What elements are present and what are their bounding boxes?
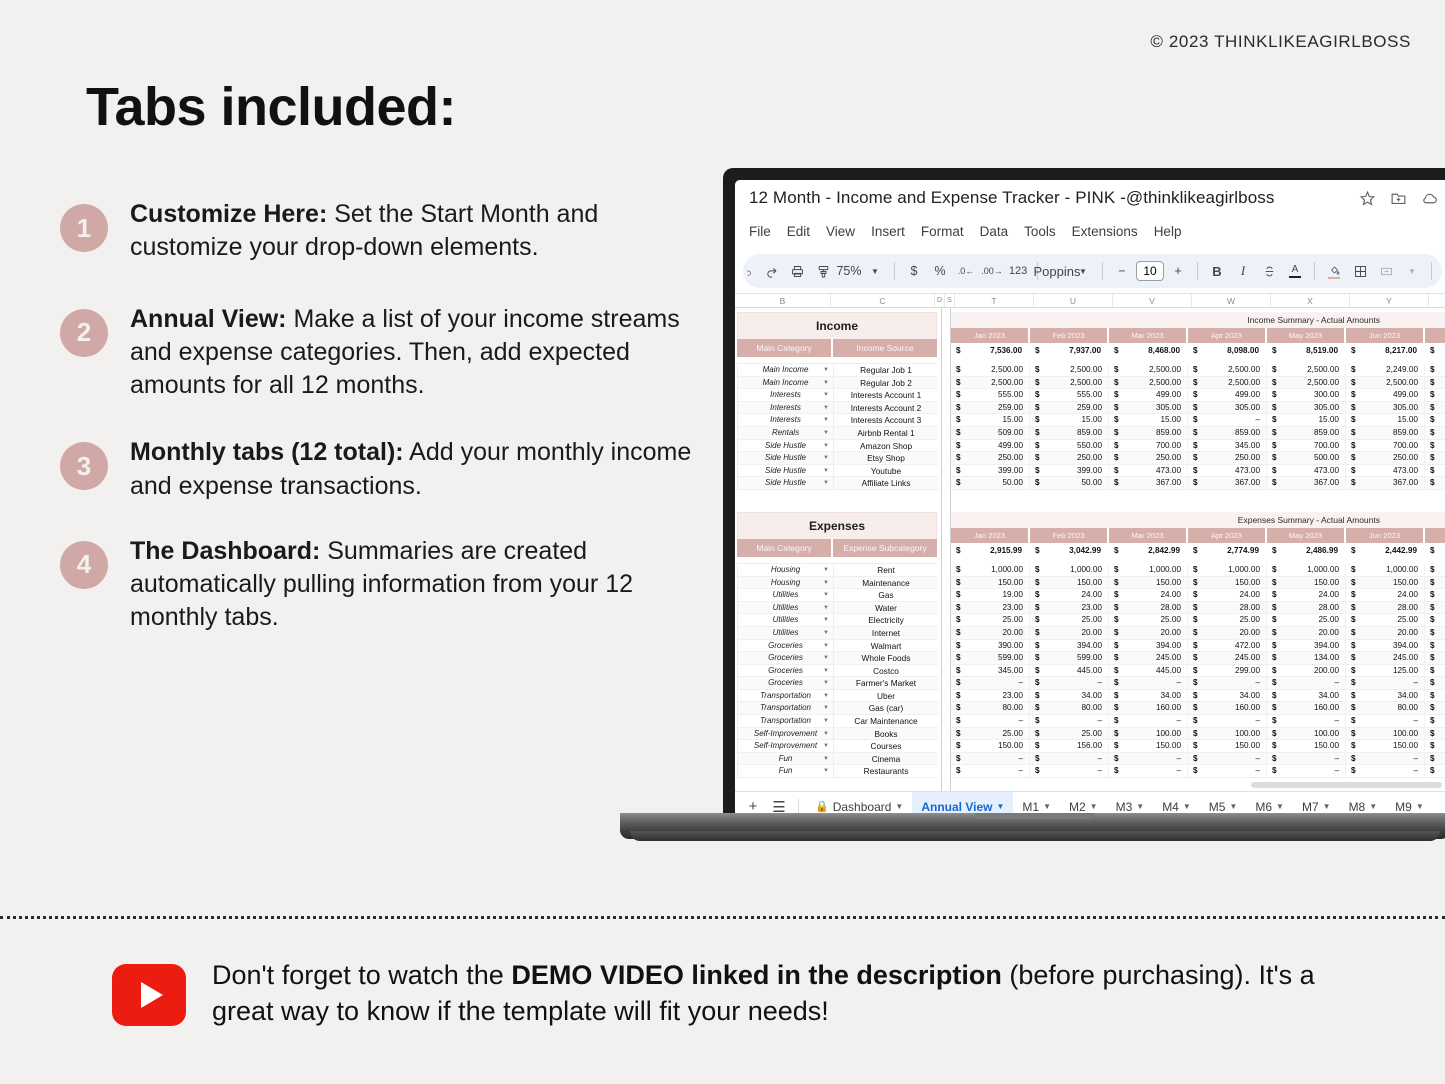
amount-cell[interactable]: $150.00 bbox=[951, 577, 1030, 590]
amount-cell[interactable]: $– bbox=[1109, 765, 1188, 778]
subcategory-cell[interactable]: Cinema bbox=[834, 753, 938, 766]
amount-cell[interactable]: $150.00 bbox=[1188, 577, 1267, 590]
amount-cell[interactable]: $2,249.00 bbox=[1346, 364, 1425, 377]
amount-cell[interactable]: $23.00 bbox=[951, 602, 1030, 615]
amount-cell[interactable]: $150.00 bbox=[1267, 740, 1346, 753]
menu-view[interactable]: View bbox=[826, 224, 855, 248]
amount-cell[interactable]: $700.00 bbox=[1346, 440, 1425, 453]
amount-cell[interactable]: $1,000.00 bbox=[1425, 564, 1445, 577]
table-row[interactable]: Fun▼Restaurants bbox=[738, 765, 936, 778]
amount-cell[interactable]: $80.00 bbox=[1346, 702, 1425, 715]
table-row[interactable]: Transportation▼Uber bbox=[738, 690, 936, 703]
amount-cell[interactable]: $399.00 bbox=[1425, 465, 1445, 478]
table-row[interactable]: Utilities▼Gas bbox=[738, 589, 936, 602]
table-row[interactable]: Interests▼Interests Account 3 bbox=[738, 414, 936, 427]
amount-cell[interactable]: $100.00 bbox=[1267, 728, 1346, 741]
table-row[interactable]: Main Income▼Regular Job 2 bbox=[738, 377, 936, 390]
amount-cell[interactable]: $25.00 bbox=[1267, 614, 1346, 627]
month-total-cell[interactable]: $8,217.00 bbox=[1346, 343, 1425, 358]
amount-cell[interactable]: $149.00 bbox=[1425, 740, 1445, 753]
chevron-down-icon[interactable]: ▼ bbox=[823, 765, 829, 778]
table-row[interactable]: Housing▼Rent bbox=[738, 564, 936, 577]
chevron-down-icon[interactable]: ▼ bbox=[823, 577, 829, 590]
main-category-cell[interactable]: Utilities▼ bbox=[738, 614, 834, 627]
main-category-cell[interactable]: Transportation▼ bbox=[738, 702, 834, 715]
amount-cell[interactable]: $160.00 bbox=[1188, 702, 1267, 715]
chevron-down-icon[interactable]: ▼ bbox=[823, 414, 829, 427]
amount-cell[interactable]: $– bbox=[1267, 765, 1346, 778]
amount-cell[interactable]: $1,000.00 bbox=[1346, 564, 1425, 577]
amount-cell[interactable]: $2,500.00 bbox=[1267, 377, 1346, 390]
menu-edit[interactable]: Edit bbox=[787, 224, 810, 248]
month-total-cell[interactable]: $2,915.99 bbox=[951, 543, 1030, 558]
main-category-cell[interactable]: Interests▼ bbox=[738, 402, 834, 415]
cloud-saved-icon[interactable] bbox=[1421, 190, 1438, 212]
chevron-down-icon[interactable]: ▼ bbox=[895, 802, 903, 811]
amount-cell[interactable]: $24.00 bbox=[1109, 589, 1188, 602]
month-total-cell[interactable]: $2,471.99 bbox=[1425, 543, 1445, 558]
amount-cell[interactable]: $20.00 bbox=[1267, 627, 1346, 640]
amount-cell[interactable]: $312.00 bbox=[1425, 640, 1445, 653]
amount-cell[interactable]: $15.00 bbox=[1425, 414, 1445, 427]
increase-decimal-icon[interactable]: .00→ bbox=[980, 258, 1004, 284]
amount-cell[interactable]: $23.00 bbox=[951, 690, 1030, 703]
amount-cell[interactable]: $34.00 bbox=[1346, 690, 1425, 703]
amount-cell[interactable]: $50.00 bbox=[951, 477, 1030, 490]
amount-cell[interactable]: $– bbox=[1030, 715, 1109, 728]
percent-format-icon[interactable]: % bbox=[928, 258, 952, 284]
column-header-W[interactable]: W bbox=[1192, 294, 1271, 307]
amount-cell[interactable]: $473.00 bbox=[1188, 465, 1267, 478]
column-header-X[interactable]: X bbox=[1271, 294, 1350, 307]
main-category-cell[interactable]: Groceries▼ bbox=[738, 665, 834, 678]
subcategory-cell[interactable]: Costco bbox=[834, 665, 938, 678]
chevron-down-icon[interactable]: ▼ bbox=[1369, 802, 1377, 811]
amount-cell[interactable]: $1,000.00 bbox=[1030, 564, 1109, 577]
amount-cell[interactable]: $25.00 bbox=[951, 614, 1030, 627]
amount-cell[interactable]: $15.00 bbox=[1109, 414, 1188, 427]
menu-tools[interactable]: Tools bbox=[1024, 224, 1056, 248]
amount-cell[interactable]: $499.00 bbox=[951, 440, 1030, 453]
month-total-cell[interactable]: $8,519.00 bbox=[1267, 343, 1346, 358]
amount-cell[interactable]: $25.00 bbox=[1030, 728, 1109, 741]
amount-cell[interactable]: $473.00 bbox=[1109, 465, 1188, 478]
subcategory-cell[interactable]: Electricity bbox=[834, 614, 938, 627]
amount-cell[interactable]: $28.00 bbox=[1346, 602, 1425, 615]
zoom-chevron-down-icon[interactable]: ▼ bbox=[863, 258, 887, 284]
amount-cell[interactable]: $2,500.00 bbox=[1188, 364, 1267, 377]
amount-cell[interactable]: $150.00 bbox=[1030, 577, 1109, 590]
table-row[interactable]: Side Hustle▼Amazon Shop bbox=[738, 440, 936, 453]
chevron-down-icon[interactable]: ▼ bbox=[823, 715, 829, 728]
subcategory-cell[interactable]: Affiliate Links bbox=[834, 477, 938, 490]
table-row[interactable]: $399.00$399.00$473.00$473.00$473.00$473.… bbox=[951, 465, 1445, 478]
table-row[interactable]: $50.00$50.00$367.00$367.00$367.00$367.00… bbox=[951, 477, 1445, 490]
chevron-down-icon[interactable]: ▼ bbox=[823, 690, 829, 703]
amount-cell[interactable]: $555.00 bbox=[1030, 389, 1109, 402]
subcategory-cell[interactable]: Youtube bbox=[834, 465, 938, 478]
month-total-cell[interactable]: $7,737.00 bbox=[1425, 343, 1445, 358]
amount-cell[interactable]: $150.00 bbox=[1109, 740, 1188, 753]
subcategory-cell[interactable]: Car Maintenance bbox=[834, 715, 938, 728]
amount-cell[interactable]: $20.00 bbox=[1109, 627, 1188, 640]
table-row[interactable]: $20.00$20.00$20.00$20.00$20.00$20.00$20.… bbox=[951, 627, 1445, 640]
amount-cell[interactable]: $20.00 bbox=[1346, 627, 1425, 640]
amount-cell[interactable]: $2,500.00 bbox=[1030, 364, 1109, 377]
subcategory-cell[interactable]: Regular Job 2 bbox=[834, 377, 938, 390]
main-category-cell[interactable]: Groceries▼ bbox=[738, 677, 834, 690]
amount-cell[interactable]: $150.00 bbox=[1346, 740, 1425, 753]
chevron-down-icon[interactable]: ▼ bbox=[823, 665, 829, 678]
amount-cell[interactable]: $499.00 bbox=[1188, 389, 1267, 402]
table-row[interactable]: $80.00$80.00$160.00$160.00$160.00$80.00$… bbox=[951, 702, 1445, 715]
table-row[interactable]: $150.00$150.00$150.00$150.00$150.00$150.… bbox=[951, 577, 1445, 590]
table-row[interactable]: $390.00$394.00$394.00$472.00$394.00$394.… bbox=[951, 640, 1445, 653]
amount-cell[interactable]: $859.00 bbox=[1188, 427, 1267, 440]
subcategory-cell[interactable]: Regular Job 1 bbox=[834, 364, 938, 377]
table-row[interactable]: $259.00$259.00$305.00$305.00$305.00$305.… bbox=[951, 402, 1445, 415]
amount-cell[interactable]: $23.00 bbox=[1425, 602, 1445, 615]
main-category-cell[interactable]: Utilities▼ bbox=[738, 589, 834, 602]
amount-cell[interactable]: $– bbox=[1188, 414, 1267, 427]
month-total-cell[interactable]: $2,442.99 bbox=[1346, 543, 1425, 558]
print-icon[interactable] bbox=[785, 258, 809, 284]
amount-cell[interactable]: $150.00 bbox=[951, 740, 1030, 753]
amount-cell[interactable]: $25.00 bbox=[951, 728, 1030, 741]
amount-cell[interactable]: $15.00 bbox=[951, 414, 1030, 427]
subcategory-cell[interactable]: Interests Account 3 bbox=[834, 414, 938, 427]
amount-cell[interactable]: $15.00 bbox=[1030, 414, 1109, 427]
amount-cell[interactable]: $15.00 bbox=[1346, 414, 1425, 427]
amount-cell[interactable]: $399.00 bbox=[1030, 465, 1109, 478]
amount-cell[interactable]: $250.00 bbox=[1188, 452, 1267, 465]
main-category-cell[interactable]: Transportation▼ bbox=[738, 715, 834, 728]
amount-cell[interactable]: $25.00 bbox=[1188, 614, 1267, 627]
amount-cell[interactable]: $1,000.00 bbox=[1109, 564, 1188, 577]
amount-cell[interactable]: $50.00 bbox=[1425, 477, 1445, 490]
table-row[interactable]: $15.00$15.00$15.00$–$15.00$15.00$15.00$1… bbox=[951, 414, 1445, 427]
amount-cell[interactable]: $250.00 bbox=[1425, 452, 1445, 465]
amount-cell[interactable]: $24.00 bbox=[1030, 589, 1109, 602]
amount-cell[interactable]: $394.00 bbox=[1030, 640, 1109, 653]
main-category-cell[interactable]: Housing▼ bbox=[738, 564, 834, 577]
month-total-cell[interactable]: $8,098.00 bbox=[1188, 343, 1267, 358]
italic-button[interactable]: I bbox=[1231, 258, 1255, 284]
strikethrough-icon[interactable] bbox=[1257, 258, 1281, 284]
main-category-cell[interactable]: Housing▼ bbox=[738, 577, 834, 590]
amount-cell[interactable]: $700.00 bbox=[1267, 440, 1346, 453]
month-total-cell[interactable]: $8,468.00 bbox=[1109, 343, 1188, 358]
chevron-down-icon[interactable]: ▼ bbox=[823, 427, 829, 440]
currency-format-icon[interactable]: $ bbox=[902, 258, 926, 284]
table-row[interactable]: $2,500.00$2,500.00$2,500.00$2,500.00$2,5… bbox=[951, 364, 1445, 377]
amount-cell[interactable]: $23.00 bbox=[1030, 602, 1109, 615]
subcategory-cell[interactable]: Etsy Shop bbox=[834, 452, 938, 465]
amount-cell[interactable]: $24.00 bbox=[1267, 589, 1346, 602]
amount-cell[interactable]: $– bbox=[1346, 765, 1425, 778]
amount-cell[interactable]: $160.00 bbox=[1267, 702, 1346, 715]
amount-cell[interactable]: $700.00 bbox=[1425, 440, 1445, 453]
chevron-down-icon[interactable]: ▼ bbox=[823, 402, 829, 415]
amount-cell[interactable]: $19.00 bbox=[1425, 589, 1445, 602]
amount-cell[interactable]: $100.00 bbox=[1109, 728, 1188, 741]
amount-cell[interactable]: $399.00 bbox=[951, 465, 1030, 478]
amount-cell[interactable]: $245.00 bbox=[1188, 652, 1267, 665]
main-category-cell[interactable]: Groceries▼ bbox=[738, 640, 834, 653]
amount-cell[interactable]: $50.00 bbox=[1030, 477, 1109, 490]
amount-cell[interactable]: $1,000.00 bbox=[951, 564, 1030, 577]
amount-cell[interactable]: $34.00 bbox=[1267, 690, 1346, 703]
column-header-U[interactable]: U bbox=[1034, 294, 1113, 307]
main-category-cell[interactable]: Fun▼ bbox=[738, 765, 834, 778]
main-category-cell[interactable]: Groceries▼ bbox=[738, 652, 834, 665]
table-row[interactable]: Transportation▼Car Maintenance bbox=[738, 715, 936, 728]
month-total-cell[interactable]: $3,042.99 bbox=[1030, 543, 1109, 558]
amount-cell[interactable]: $367.00 bbox=[1109, 477, 1188, 490]
table-row[interactable]: $23.00$23.00$28.00$28.00$28.00$28.00$23.… bbox=[951, 602, 1445, 615]
chevron-down-icon[interactable]: ▼ bbox=[823, 389, 829, 402]
amount-cell[interactable]: $250.00 bbox=[1109, 452, 1188, 465]
table-row[interactable]: $250.00$250.00$250.00$250.00$500.00$250.… bbox=[951, 452, 1445, 465]
paint-format-icon[interactable] bbox=[811, 258, 835, 284]
amount-cell[interactable]: $150.00 bbox=[1346, 577, 1425, 590]
amount-cell[interactable]: $150.00 bbox=[1425, 577, 1445, 590]
amount-cell[interactable]: $– bbox=[1425, 677, 1445, 690]
amount-cell[interactable]: $2,500.00 bbox=[951, 364, 1030, 377]
chevron-down-icon[interactable]: ▼ bbox=[823, 740, 829, 753]
amount-cell[interactable]: $– bbox=[1346, 753, 1425, 766]
menu-data[interactable]: Data bbox=[980, 224, 1009, 248]
chevron-down-icon[interactable]: ▼ bbox=[823, 652, 829, 665]
chevron-down-icon[interactable]: ▼ bbox=[1090, 802, 1098, 811]
subcategory-cell[interactable]: Interests Account 2 bbox=[834, 402, 938, 415]
column-header-Y[interactable]: Y bbox=[1350, 294, 1429, 307]
amount-cell[interactable]: $24.00 bbox=[1188, 589, 1267, 602]
amount-cell[interactable]: $20.00 bbox=[1425, 627, 1445, 640]
subcategory-cell[interactable]: Restaurants bbox=[834, 765, 938, 778]
subcategory-cell[interactable]: Rent bbox=[834, 564, 938, 577]
main-category-cell[interactable]: Self-Improvement▼ bbox=[738, 740, 834, 753]
amount-cell[interactable]: $473.00 bbox=[1267, 465, 1346, 478]
amount-cell[interactable]: $394.00 bbox=[1346, 640, 1425, 653]
main-category-cell[interactable]: Fun▼ bbox=[738, 753, 834, 766]
amount-cell[interactable]: $859.00 bbox=[1030, 427, 1109, 440]
horizontal-align-icon[interactable] bbox=[1439, 258, 1442, 284]
amount-cell[interactable]: $2,500.00 bbox=[1346, 377, 1425, 390]
column-header-S[interactable]: S bbox=[945, 294, 955, 307]
subcategory-cell[interactable]: Amazon Shop bbox=[834, 440, 938, 453]
amount-cell[interactable]: $24.00 bbox=[1346, 589, 1425, 602]
amount-cell[interactable]: $499.00 bbox=[1346, 389, 1425, 402]
amount-cell[interactable]: $23.00 bbox=[1425, 690, 1445, 703]
table-row[interactable]: Side Hustle▼Affiliate Links bbox=[738, 477, 936, 490]
table-row[interactable]: Self-Improvement▼Courses bbox=[738, 740, 936, 753]
amount-cell[interactable]: $390.00 bbox=[951, 640, 1030, 653]
amount-cell[interactable]: $34.00 bbox=[1109, 690, 1188, 703]
star-icon[interactable] bbox=[1359, 190, 1376, 212]
table-row[interactable]: $555.00$555.00$499.00$499.00$300.00$499.… bbox=[951, 389, 1445, 402]
amount-cell[interactable]: $100.00 bbox=[1346, 728, 1425, 741]
column-header-D[interactable]: D bbox=[935, 294, 945, 307]
menu-help[interactable]: Help bbox=[1154, 224, 1182, 248]
amount-cell[interactable]: $– bbox=[1267, 677, 1346, 690]
more-formats-icon[interactable]: 123 bbox=[1006, 258, 1030, 284]
chevron-down-icon[interactable]: ▼ bbox=[1136, 802, 1144, 811]
undo-icon[interactable] bbox=[747, 258, 757, 284]
amount-cell[interactable]: $15.00 bbox=[1267, 414, 1346, 427]
menu-insert[interactable]: Insert bbox=[871, 224, 905, 248]
amount-cell[interactable]: $20.00 bbox=[1030, 627, 1109, 640]
font-size-input[interactable]: 10 bbox=[1136, 261, 1164, 281]
amount-cell[interactable]: $19.00 bbox=[951, 589, 1030, 602]
amount-cell[interactable]: $25.00 bbox=[1425, 728, 1445, 741]
amount-cell[interactable]: $2,500.00 bbox=[1109, 377, 1188, 390]
amount-cell[interactable]: $156.00 bbox=[1030, 740, 1109, 753]
amount-cell[interactable]: $509.00 bbox=[951, 427, 1030, 440]
amount-cell[interactable]: $– bbox=[1030, 677, 1109, 690]
subcategory-cell[interactable]: Uber bbox=[834, 690, 938, 703]
amount-cell[interactable]: $445.00 bbox=[1030, 665, 1109, 678]
amount-cell[interactable]: $2,500.00 bbox=[1425, 377, 1445, 390]
chevron-down-icon[interactable]: ▼ bbox=[823, 728, 829, 741]
table-row[interactable]: $–$–$–$–$–$–$–$–$– bbox=[951, 677, 1445, 690]
amount-cell[interactable]: $– bbox=[1109, 753, 1188, 766]
amount-cell[interactable]: $– bbox=[951, 765, 1030, 778]
amount-cell[interactable]: $305.00 bbox=[1267, 402, 1346, 415]
amount-cell[interactable]: $28.00 bbox=[1109, 602, 1188, 615]
amount-cell[interactable]: $305.00 bbox=[1188, 402, 1267, 415]
subcategory-cell[interactable]: Walmart bbox=[834, 640, 938, 653]
table-row[interactable]: Groceries▼Farmer's Market bbox=[738, 677, 936, 690]
spreadsheet-title[interactable]: 12 Month - Income and Expense Tracker - … bbox=[749, 188, 1436, 208]
table-row[interactable]: $599.00$599.00$245.00$245.00$134.00$245.… bbox=[951, 652, 1445, 665]
amount-cell[interactable]: $1,000.00 bbox=[1188, 564, 1267, 577]
table-row[interactable]: Housing▼Maintenance bbox=[738, 577, 936, 590]
amount-cell[interactable]: $150.00 bbox=[1109, 577, 1188, 590]
table-row[interactable]: Utilities▼Water bbox=[738, 602, 936, 615]
main-category-cell[interactable]: Main Income▼ bbox=[738, 364, 834, 377]
amount-cell[interactable]: $25.00 bbox=[1030, 614, 1109, 627]
amount-cell[interactable]: $134.00 bbox=[1267, 652, 1346, 665]
chevron-down-icon[interactable]: ▼ bbox=[823, 377, 829, 390]
font-family-select[interactable]: Poppins bbox=[1045, 258, 1069, 284]
amount-cell[interactable]: $555.00 bbox=[951, 389, 1030, 402]
amount-cell[interactable]: $– bbox=[1425, 765, 1445, 778]
chevron-down-icon[interactable]: ▼ bbox=[823, 452, 829, 465]
main-category-cell[interactable]: Side Hustle▼ bbox=[738, 465, 834, 478]
menu-file[interactable]: File bbox=[749, 224, 771, 248]
amount-cell[interactable]: $367.00 bbox=[1188, 477, 1267, 490]
amount-cell[interactable]: $80.00 bbox=[1425, 702, 1445, 715]
amount-cell[interactable]: $– bbox=[951, 753, 1030, 766]
chevron-down-icon[interactable]: ▼ bbox=[1183, 802, 1191, 811]
menu-extensions[interactable]: Extensions bbox=[1072, 224, 1138, 248]
table-row[interactable]: Fun▼Cinema bbox=[738, 753, 936, 766]
amount-cell[interactable]: $599.00 bbox=[1030, 652, 1109, 665]
table-row[interactable]: Rentals▼Airbnb Rental 1 bbox=[738, 427, 936, 440]
fill-color-icon[interactable] bbox=[1322, 258, 1346, 284]
amount-cell[interactable]: $28.00 bbox=[1188, 602, 1267, 615]
main-category-cell[interactable]: Utilities▼ bbox=[738, 627, 834, 640]
table-row[interactable]: Utilities▼Internet bbox=[738, 627, 936, 640]
amount-cell[interactable]: $250.00 bbox=[951, 452, 1030, 465]
amount-cell[interactable]: $259.00 bbox=[1425, 402, 1445, 415]
font-chevron-down-icon[interactable]: ▼ bbox=[1071, 258, 1095, 284]
amount-cell[interactable]: $160.00 bbox=[1109, 702, 1188, 715]
table-row[interactable]: Groceries▼Walmart bbox=[738, 640, 936, 653]
table-row[interactable]: $25.00$25.00$100.00$100.00$100.00$100.00… bbox=[951, 728, 1445, 741]
amount-cell[interactable]: $555.00 bbox=[1425, 389, 1445, 402]
amount-cell[interactable]: $80.00 bbox=[1030, 702, 1109, 715]
month-total-cell[interactable]: $2,774.99 bbox=[1188, 543, 1267, 558]
amount-cell[interactable]: $80.00 bbox=[951, 702, 1030, 715]
amount-cell[interactable]: $– bbox=[951, 715, 1030, 728]
amount-cell[interactable]: $20.00 bbox=[951, 627, 1030, 640]
chevron-down-icon[interactable]: ▼ bbox=[823, 589, 829, 602]
amount-cell[interactable]: $245.00 bbox=[1109, 652, 1188, 665]
amount-cell[interactable]: $– bbox=[1346, 715, 1425, 728]
main-category-cell[interactable]: Main Income▼ bbox=[738, 377, 834, 390]
amount-cell[interactable]: $25.00 bbox=[1425, 614, 1445, 627]
amount-cell[interactable]: $299.00 bbox=[1188, 665, 1267, 678]
amount-cell[interactable]: $250.00 bbox=[1346, 452, 1425, 465]
youtube-play-icon[interactable] bbox=[112, 964, 186, 1026]
chevron-down-icon[interactable]: ▼ bbox=[1276, 802, 1284, 811]
main-category-cell[interactable]: Side Hustle▼ bbox=[738, 440, 834, 453]
subcategory-cell[interactable]: Interests Account 1 bbox=[834, 389, 938, 402]
amount-cell[interactable]: $– bbox=[1267, 753, 1346, 766]
table-row[interactable]: Transportation▼Gas (car) bbox=[738, 702, 936, 715]
table-row[interactable]: $19.00$24.00$24.00$24.00$24.00$24.00$19.… bbox=[951, 589, 1445, 602]
amount-cell[interactable]: $34.00 bbox=[1188, 690, 1267, 703]
chevron-down-icon[interactable]: ▼ bbox=[1043, 802, 1051, 811]
subcategory-cell[interactable]: Books bbox=[834, 728, 938, 741]
amount-cell[interactable]: $500.00 bbox=[1267, 452, 1346, 465]
amount-cell[interactable]: $259.00 bbox=[951, 402, 1030, 415]
amount-cell[interactable]: $– bbox=[1425, 753, 1445, 766]
amount-cell[interactable]: $367.00 bbox=[1346, 477, 1425, 490]
amount-cell[interactable]: $25.00 bbox=[1346, 614, 1425, 627]
chevron-down-icon[interactable]: ▼ bbox=[823, 627, 829, 640]
amount-cell[interactable]: $550.00 bbox=[1030, 440, 1109, 453]
amount-cell[interactable]: $150.00 bbox=[1188, 740, 1267, 753]
subcategory-cell[interactable]: Courses bbox=[834, 740, 938, 753]
table-row[interactable]: $23.00$34.00$34.00$34.00$34.00$34.00$23.… bbox=[951, 690, 1445, 703]
table-row[interactable]: $–$–$–$–$–$–$–$–$– bbox=[951, 765, 1445, 778]
amount-cell[interactable]: $34.00 bbox=[1030, 690, 1109, 703]
chevron-down-icon[interactable]: ▼ bbox=[1229, 802, 1237, 811]
amount-cell[interactable]: $509.00 bbox=[1425, 427, 1445, 440]
subcategory-cell[interactable]: Internet bbox=[834, 627, 938, 640]
month-total-cell[interactable]: $2,842.99 bbox=[1109, 543, 1188, 558]
table-row[interactable]: $–$–$–$–$–$–$–$–$– bbox=[951, 715, 1445, 728]
month-total-cell[interactable]: $7,536.00 bbox=[951, 343, 1030, 358]
amount-cell[interactable]: $250.00 bbox=[1030, 452, 1109, 465]
column-header-C[interactable]: C bbox=[831, 294, 935, 307]
amount-cell[interactable]: $859.00 bbox=[1109, 427, 1188, 440]
table-row[interactable]: $499.00$550.00$700.00$345.00$700.00$700.… bbox=[951, 440, 1445, 453]
amount-cell[interactable]: $859.00 bbox=[1267, 427, 1346, 440]
chevron-down-icon[interactable]: ▼ bbox=[823, 477, 829, 490]
chevron-down-icon[interactable]: ▼ bbox=[996, 802, 1004, 811]
move-to-folder-icon[interactable] bbox=[1390, 190, 1407, 212]
table-row[interactable]: $150.00$156.00$150.00$150.00$150.00$150.… bbox=[951, 740, 1445, 753]
amount-cell[interactable]: $– bbox=[1267, 715, 1346, 728]
chevron-down-icon[interactable]: ▼ bbox=[823, 702, 829, 715]
amount-cell[interactable]: $– bbox=[1109, 715, 1188, 728]
subcategory-cell[interactable]: Maintenance bbox=[834, 577, 938, 590]
menu-format[interactable]: Format bbox=[921, 224, 964, 248]
